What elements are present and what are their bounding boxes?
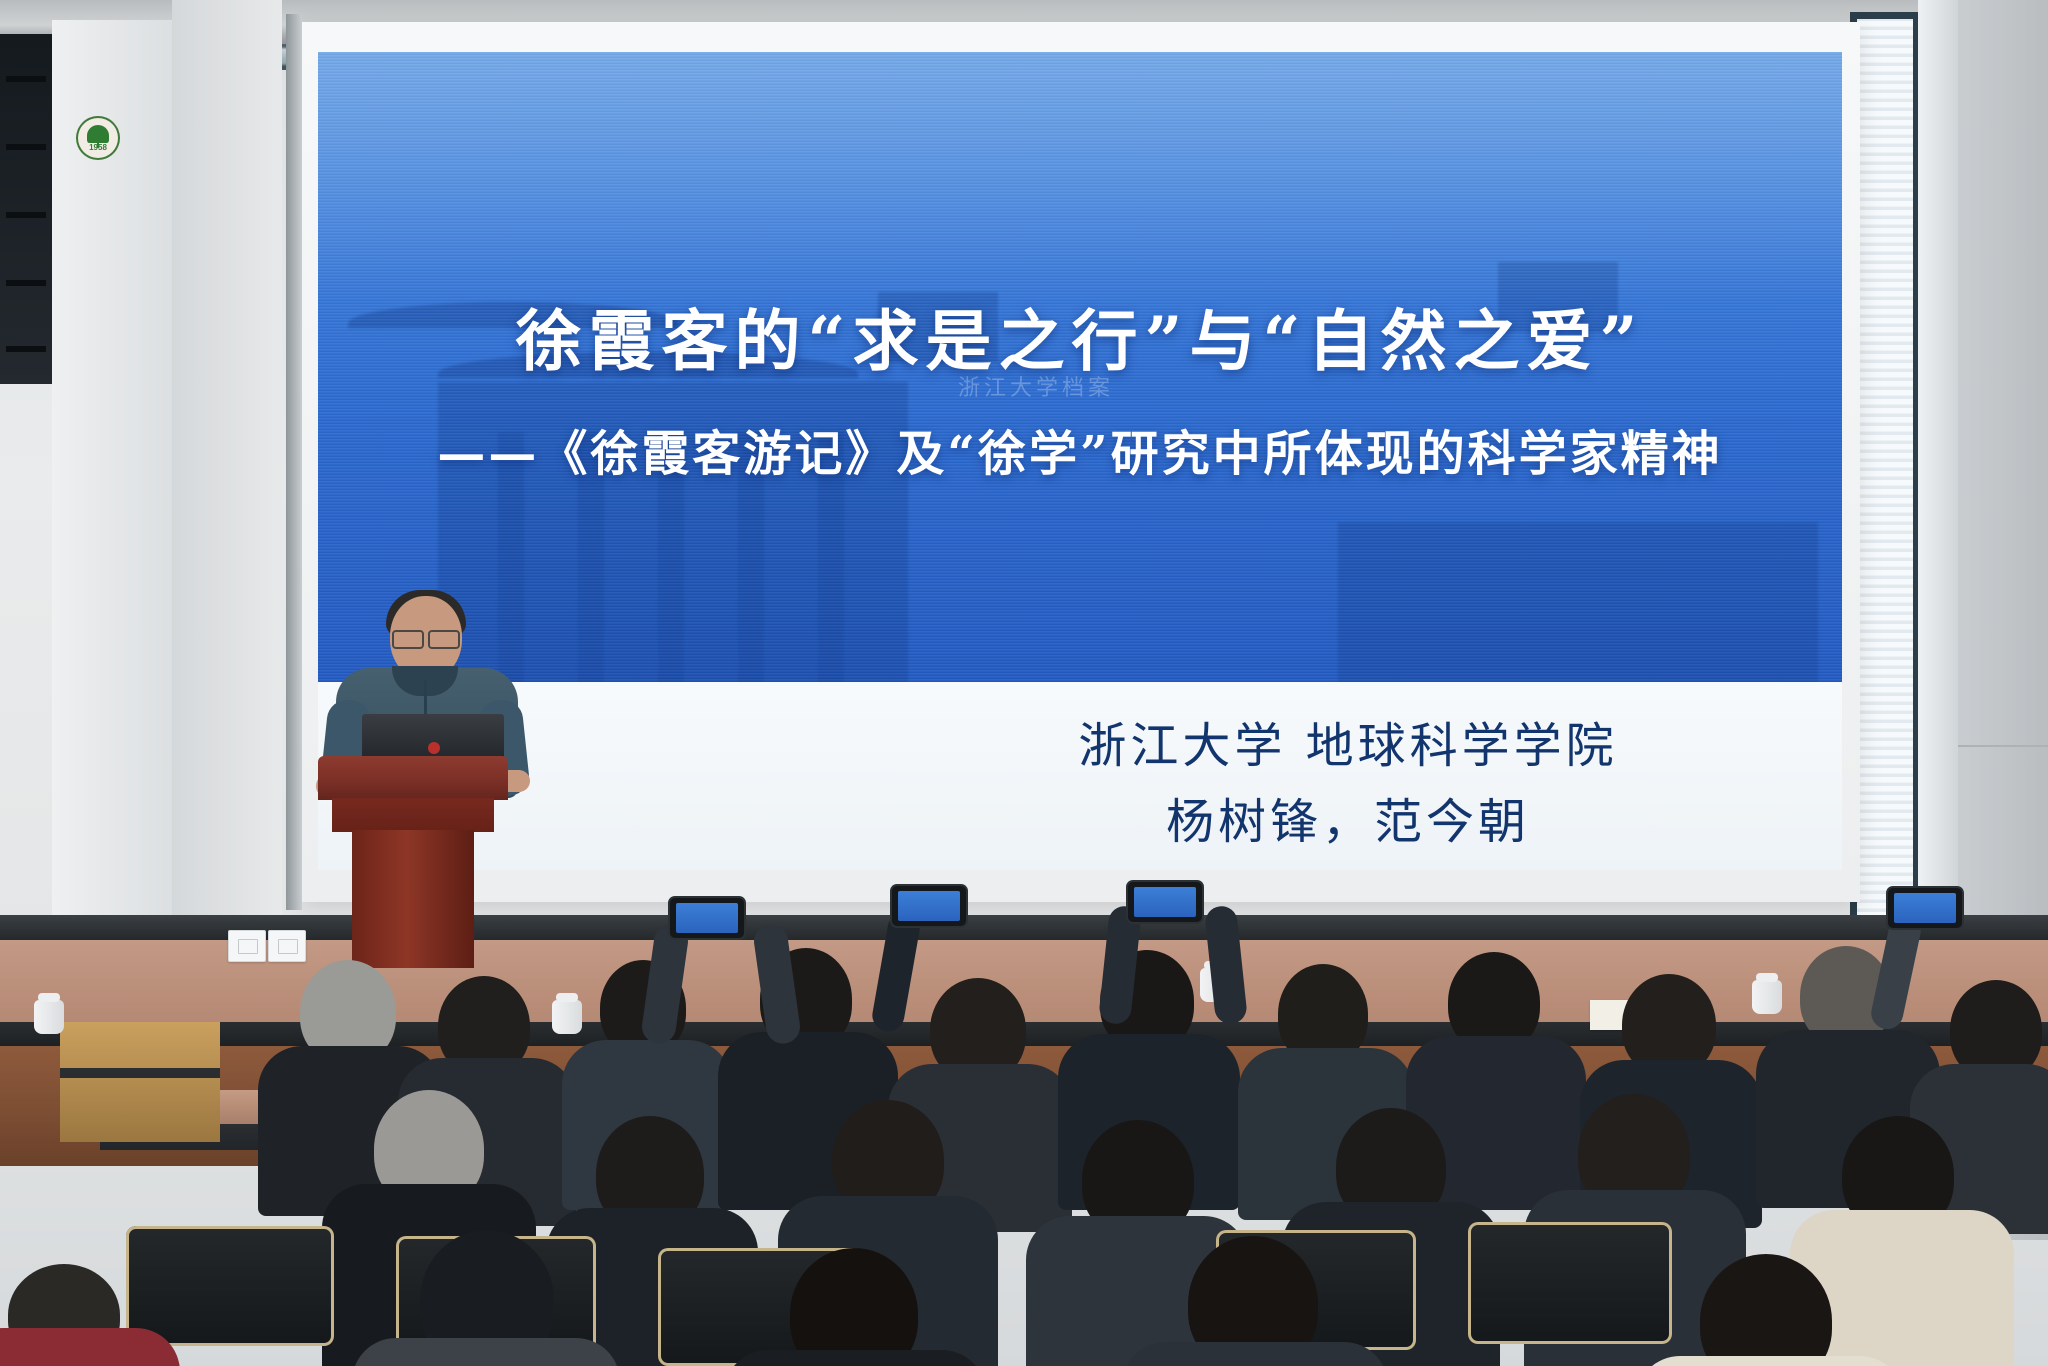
auditorium-seat[interactable] (1468, 1222, 1672, 1344)
slide-subtitle: ——《徐霞客游记》及“徐学”研究中所体现的科学家精神 (318, 414, 1842, 484)
smartphone[interactable] (1128, 882, 1202, 922)
left-wall-dark-panel (0, 34, 52, 384)
glasses-icon (392, 630, 460, 645)
screenshot-root: 徐霞客的“求是之行”与“自然之爱” 浙江大学档案 ——《徐霞客游记》及“徐学”研… (0, 0, 2048, 1366)
audience-torso (1122, 1342, 1388, 1366)
slide-blue-panel: 徐霞客的“求是之行”与“自然之爱” 浙江大学档案 ——《徐霞客游记》及“徐学”研… (318, 52, 1842, 682)
smartphone[interactable] (670, 898, 744, 938)
audience-torso (352, 1338, 620, 1366)
slide-affiliation: 浙江大学 地球科学学院 (878, 706, 1818, 776)
slide-watermark: 浙江大学档案 (958, 370, 1114, 402)
podium-laptop[interactable] (362, 714, 504, 762)
podium-top (318, 756, 508, 800)
smartphone[interactable] (1888, 888, 1962, 928)
right-wall-seam (1958, 745, 2048, 747)
smartphone[interactable] (892, 886, 966, 926)
audience-area (0, 930, 2048, 1366)
audience-torso (724, 1350, 986, 1366)
presentation-slide: 徐霞客的“求是之行”与“自然之爱” 浙江大学档案 ——《徐霞客游记》及“徐学”研… (318, 52, 1842, 870)
university-emblem-icon: 1958 (76, 116, 120, 160)
audience-torso (1636, 1356, 1904, 1366)
slide-footer-panel: 浙江大学 地球科学学院 杨树锋，范今朝 (318, 682, 1842, 870)
slide-authors: 杨树锋，范今朝 (878, 782, 1818, 852)
audience-torso (0, 1328, 180, 1366)
laptop-indicator-light (428, 742, 440, 754)
podium-neck (332, 798, 494, 832)
emblem-year: 1958 (76, 143, 120, 152)
projection-screen: 徐霞客的“求是之行”与“自然之爱” 浙江大学档案 ——《徐霞客游记》及“徐学”研… (300, 22, 1860, 902)
auditorium-seat[interactable] (126, 1226, 334, 1346)
